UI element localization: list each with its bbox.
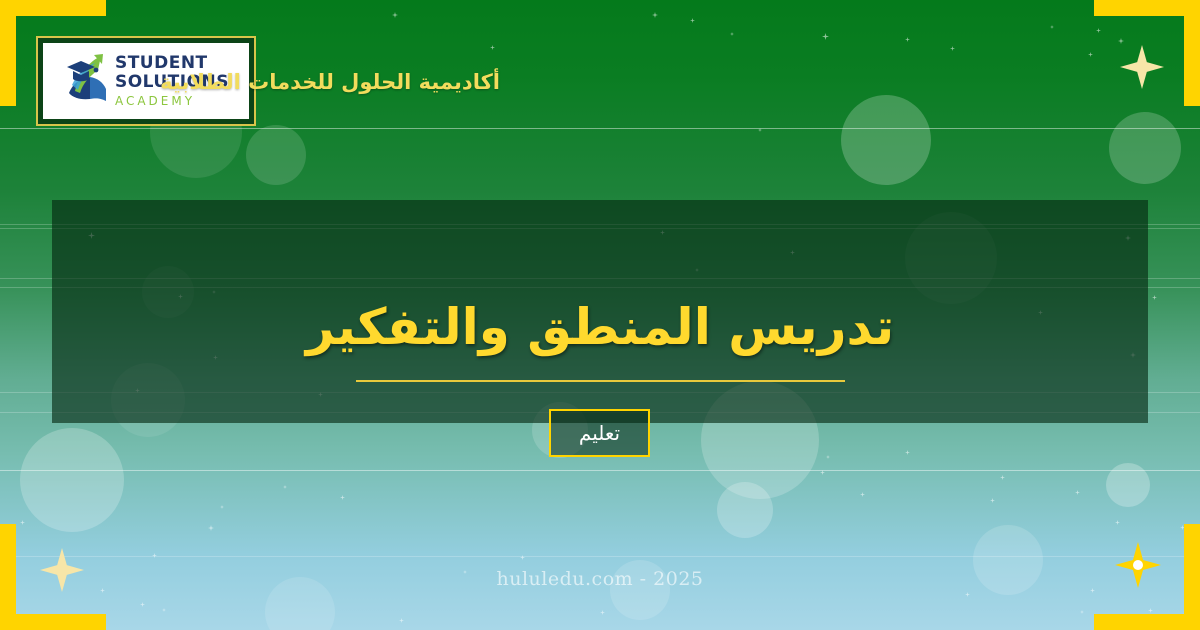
sparkle-icon [20,520,25,525]
sparkle-icon [208,525,214,531]
decorative-circle [20,428,124,532]
sparkle-icon [652,12,658,18]
decorative-circle [1109,112,1181,184]
sparkle-icon [220,505,224,509]
sparkle-icon [905,37,910,42]
sparkle-icon [826,455,830,459]
sparkle-icon [950,46,955,51]
sparkle-icon [600,610,605,615]
sparkle-icon [340,495,345,500]
sparkle-icon [1148,608,1153,613]
sparkle-icon [490,45,495,50]
decorative-circle [246,125,306,185]
sparkle-icon [1075,490,1080,495]
sparkle-icon [690,18,695,23]
sparkle-icon [1096,28,1101,33]
sparkle-icon [990,498,995,503]
graduation-cap-icon [63,53,109,109]
sparkle-icon [283,485,287,489]
sparkle-icon [905,450,910,455]
course-banner: STUDENT SOLUTIONS ACADEMY أكاديمية الحلو… [0,0,1200,630]
scan-line [0,556,1200,557]
title-underline [356,380,845,382]
brand-arabic-name: أكاديمية الحلول للخدمات الطلابية [160,70,500,94]
decorative-circle [717,482,773,538]
scan-line [0,470,1200,471]
sparkle-icon [758,128,762,132]
sparkle-icon [820,470,825,475]
category-badge-label: تعليم [579,421,620,445]
sparkle-icon [152,553,157,558]
four-point-star-icon [1120,45,1164,89]
decorative-circle [1106,463,1150,507]
sparkle-icon [1180,525,1185,530]
sparkle-icon [162,608,166,612]
category-badge[interactable]: تعليم [549,409,650,457]
sparkle-icon [392,12,398,18]
logo-line-academy: ACADEMY [115,95,229,107]
sparkle-icon [730,32,734,36]
sparkle-icon [822,33,829,40]
sparkle-icon [1088,52,1093,57]
sparkle-icon [1080,610,1084,614]
footer-watermark: hululedu.com - 2025 [0,568,1200,590]
decorative-circle [841,95,931,185]
sparkle-icon [399,618,404,623]
page-title: تدريس المنطق والتفكير [0,298,1200,356]
sparkle-icon [140,602,145,607]
scan-line [0,128,1200,129]
corner-bracket-top-right [1080,0,1200,120]
sparkle-icon [860,492,865,497]
sparkle-icon [1115,520,1120,525]
sparkle-icon [1118,38,1124,44]
sparkle-icon [1000,475,1005,480]
sparkle-icon [965,592,970,597]
sparkle-icon [520,555,525,560]
sparkle-icon [1050,25,1054,29]
